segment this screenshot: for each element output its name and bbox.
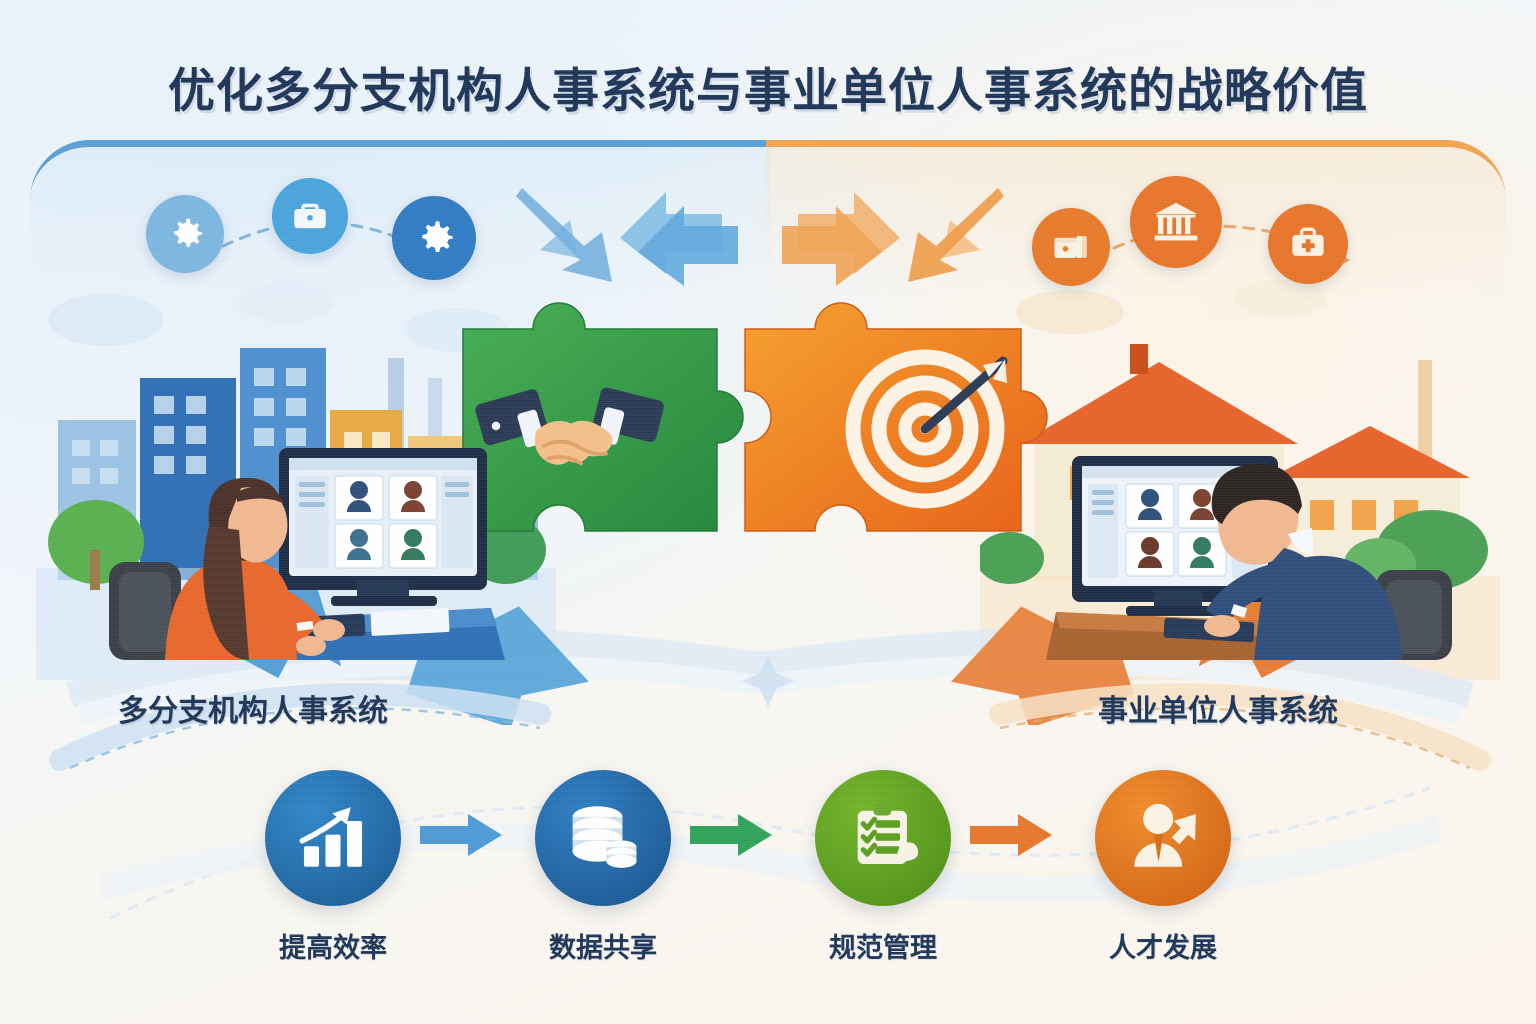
gear-icon — [409, 213, 459, 263]
pipeline-step-4[interactable]: 人才发展 — [1088, 770, 1238, 965]
woman-at-computer-illustration — [105, 430, 515, 660]
person-growth-icon-circle — [1095, 770, 1231, 906]
benefits-pipeline: 提高效率 — [0, 760, 1536, 1010]
badge-briefcase[interactable] — [272, 178, 348, 254]
profile-card — [1178, 532, 1226, 576]
badge-gear-right[interactable] — [392, 196, 476, 280]
badge-gear-left[interactable] — [146, 195, 224, 273]
gear-icon — [162, 211, 208, 257]
pipeline-step-3[interactable]: 规范管理 — [808, 770, 958, 965]
profile-card — [389, 476, 437, 520]
left-flow-arrow-right — [620, 192, 738, 286]
left-flow-arrow-down — [510, 188, 612, 282]
badge-medical-kit[interactable] — [1268, 204, 1348, 284]
infographic-canvas: 优化多分支机构人事系统与事业单位人事系统的战略价值 — [0, 0, 1536, 1024]
pipeline-arrow-1 — [420, 812, 504, 858]
profile-card — [1126, 484, 1174, 528]
database-icon — [562, 795, 644, 882]
government-building-icon — [1149, 195, 1203, 249]
right-system-label: 事业单位人事系统 — [1098, 686, 1338, 730]
person-growth-icon — [1122, 795, 1204, 882]
badge-government-building[interactable] — [1130, 176, 1222, 268]
pipeline-arrow-2 — [690, 812, 774, 858]
pipeline-step-3-label: 规范管理 — [808, 926, 958, 965]
profile-card — [335, 476, 383, 520]
checklist-icon — [842, 795, 924, 882]
pipeline-arrow-3 — [970, 812, 1054, 858]
target-puzzle-piece — [745, 303, 1047, 531]
folder-books-icon — [1049, 225, 1093, 269]
man-at-computer-illustration — [1046, 430, 1456, 660]
checklist-icon-circle — [815, 770, 951, 906]
pipeline-step-4-label: 人才发展 — [1088, 926, 1238, 965]
puzzle-integration-graphic — [455, 285, 1085, 585]
page-title: 优化多分支机构人事系统与事业单位人事系统的战略价值 — [0, 52, 1536, 121]
pipeline-step-1[interactable]: 提高效率 — [258, 770, 408, 965]
right-flow-arrow-left — [782, 192, 900, 286]
pipeline-step-2-label: 数据共享 — [528, 926, 678, 965]
badge-folder-books[interactable] — [1032, 208, 1110, 286]
profile-card — [389, 524, 437, 568]
pipeline-step-2[interactable]: 数据共享 — [528, 770, 678, 965]
growth-chart-icon — [292, 795, 374, 882]
database-icon-circle — [535, 770, 671, 906]
right-flow-arrow-down — [908, 188, 1010, 282]
pipeline-step-1-label: 提高效率 — [258, 926, 408, 965]
profile-card — [335, 524, 383, 568]
left-system-label: 多分支机构人事系统 — [118, 686, 388, 730]
medical-kit-icon — [1286, 222, 1330, 266]
growth-chart-icon-circle — [265, 770, 401, 906]
briefcase-icon — [289, 195, 331, 237]
profile-card — [1126, 532, 1174, 576]
